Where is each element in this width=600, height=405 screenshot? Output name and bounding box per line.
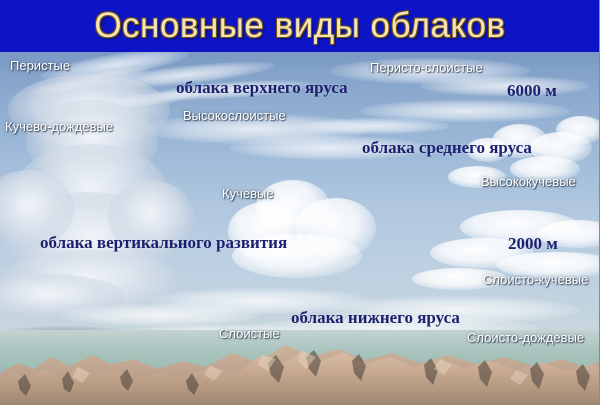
label-cumulonimbus: Кучево-дождевые [5, 119, 113, 134]
label-cumulus: Кучевые [222, 186, 274, 201]
slide-canvas: Основные виды облаков Перистые Перисто-с… [0, 0, 600, 405]
label-tier-lower: облака нижнего яруса [291, 308, 460, 328]
cumulonimbus-top [26, 100, 158, 184]
label-cirrostratus: Перисто-слоистые [370, 60, 483, 75]
label-stratocumulus: Слоисто-кучевые [483, 272, 588, 287]
stratus-sheet-2 [60, 304, 260, 326]
label-cirrus: Перистые [10, 58, 70, 73]
cirrostratus-veil-2 [420, 76, 590, 96]
label-altitude-6000: 6000 м [507, 81, 557, 101]
altocumulus-puff-2 [530, 132, 592, 164]
label-nimbostratus: Слоисто-дождевые [467, 330, 584, 345]
cumulonimbus-body-upper [14, 144, 168, 242]
cumulonimbus-anvil [8, 74, 170, 146]
label-altitude-2000: 2000 м [508, 234, 558, 254]
label-stratus: Слоистые [219, 326, 280, 341]
page-title: Основные виды облаков [0, 1, 600, 51]
cumulus-right [296, 198, 376, 258]
label-tier-upper: облака верхнего яруса [176, 78, 348, 98]
label-tier-middle: облака среднего яруса [362, 138, 532, 158]
label-tier-vertical: облака вертикального развития [40, 233, 287, 253]
cirrostratus-veil-4 [300, 118, 450, 134]
cirrostratus-veil-3 [360, 100, 570, 122]
cumulonimbus-base [0, 250, 182, 314]
label-altostratus: Высокослоистые [183, 108, 286, 123]
cumulonimbus-shelf [0, 274, 124, 318]
altocumulus-puff-4 [556, 116, 600, 144]
title-bar: Основные виды облаков [0, 0, 600, 52]
label-altocumulus: Высококучевые [481, 174, 576, 189]
